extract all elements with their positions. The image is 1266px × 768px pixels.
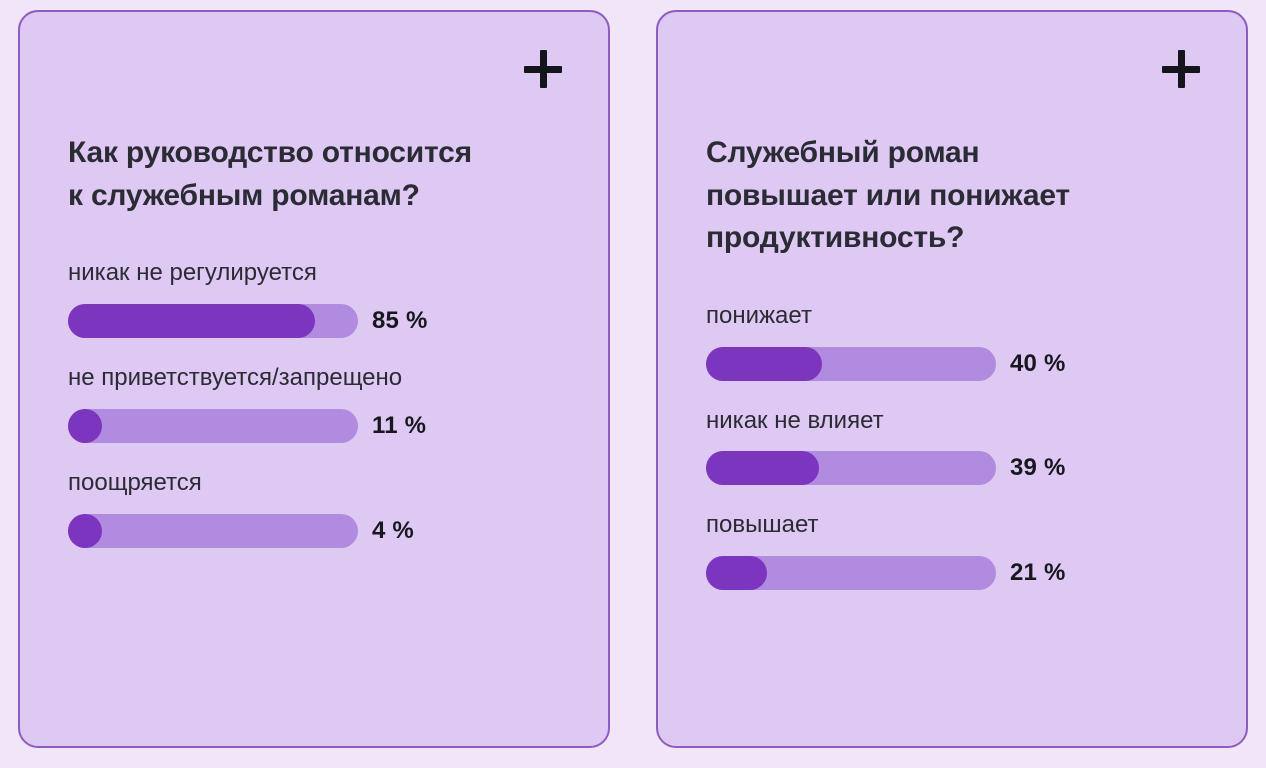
poll-board: Как руководство относится к служебным ро…: [0, 0, 1266, 768]
poll-option-value: 4 %: [372, 517, 414, 545]
poll-option-row: 40 %: [706, 347, 1198, 381]
poll-options-list: понижает 40 % никак не влияет 39 %: [706, 302, 1198, 590]
poll-bar-fill: [706, 556, 767, 590]
poll-option-label: поощряется: [68, 469, 560, 498]
poll-bar-fill: [68, 409, 102, 443]
poll-option-label: понижает: [706, 302, 1198, 331]
poll-option: никак не влияет 39 %: [706, 407, 1198, 486]
poll-option: понижает 40 %: [706, 302, 1198, 381]
poll-question-title: Как руководство относится к служебным ро…: [68, 12, 560, 217]
poll-option: повышает 21 %: [706, 511, 1198, 590]
poll-bar-track: [68, 304, 358, 338]
poll-option-row: 39 %: [706, 451, 1198, 485]
poll-option-label: никак не влияет: [706, 407, 1198, 436]
poll-option-value: 11 %: [372, 412, 426, 440]
plus-icon-vertical-stroke: [540, 50, 547, 88]
poll-option: не приветствуется/запрещено 11 %: [68, 364, 560, 443]
poll-option: поощряется 4 %: [68, 469, 560, 548]
plus-icon[interactable]: [1162, 50, 1200, 88]
poll-option-value: 21 %: [1010, 559, 1066, 587]
poll-question-title: Служебный роман повышает или понижает пр…: [706, 12, 1198, 260]
poll-option-label: не приветствуется/запрещено: [68, 364, 560, 393]
poll-options-list: никак не регулируется 85 % не приветству…: [68, 259, 560, 547]
poll-bar-fill: [706, 347, 822, 381]
poll-bar-track: [706, 347, 996, 381]
poll-option-row: 21 %: [706, 556, 1198, 590]
poll-bar-fill: [68, 304, 315, 338]
poll-option-value: 39 %: [1010, 454, 1066, 482]
poll-bar-fill: [68, 514, 102, 548]
poll-bar-track: [706, 451, 996, 485]
poll-option-row: 11 %: [68, 409, 560, 443]
poll-option-value: 40 %: [1010, 350, 1066, 378]
poll-card-productivity-impact: Служебный роман повышает или понижает пр…: [656, 10, 1248, 748]
poll-card-management-attitude: Как руководство относится к служебным ро…: [18, 10, 610, 748]
poll-option-row: 4 %: [68, 514, 560, 548]
poll-bar-track: [68, 409, 358, 443]
poll-option-value: 85 %: [372, 307, 428, 335]
plus-icon-vertical-stroke: [1178, 50, 1185, 88]
poll-bar-track: [706, 556, 996, 590]
plus-icon[interactable]: [524, 50, 562, 88]
poll-option-label: никак не регулируется: [68, 259, 560, 288]
poll-bar-track: [68, 514, 358, 548]
poll-option-label: повышает: [706, 511, 1198, 540]
poll-option: никак не регулируется 85 %: [68, 259, 560, 338]
poll-bar-fill: [706, 451, 819, 485]
poll-option-row: 85 %: [68, 304, 560, 338]
